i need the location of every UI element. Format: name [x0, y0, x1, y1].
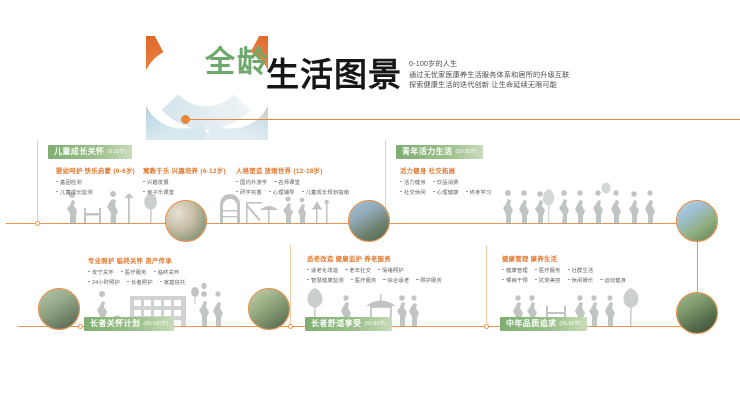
- chip-elder-care-label: 长者关怀计划: [90, 317, 140, 331]
- block-title: 适老改造 健康监护 养老服务: [307, 254, 442, 263]
- block-item: 长者照护: [127, 278, 153, 286]
- timeline-tick: [288, 324, 293, 329]
- block-item: 儿童成长规划指南: [302, 188, 350, 196]
- block-row: 基因检测: [56, 178, 135, 186]
- block-middle-age: 健康管理 康养生活 健康管理 医疗服务 社群生活 慢病干预 抗衰美容 休闲娱乐 …: [502, 254, 626, 284]
- block-item: 儿童成长监测: [56, 188, 93, 196]
- chip-youth-age: (18-35岁): [455, 145, 477, 159]
- block-item: 心理健康: [433, 188, 459, 196]
- block-item: 名师课堂: [274, 178, 300, 186]
- block-item: 社群生活: [568, 266, 594, 274]
- block-item: 兴趣发展: [143, 178, 169, 186]
- block-item: 活力健身: [400, 178, 426, 186]
- chip-elder-care-age: (80-100岁): [143, 317, 168, 331]
- node-youth-activity[interactable]: [676, 200, 718, 242]
- block-row: 社交休闲 心理健康 终身学习: [400, 188, 491, 196]
- infographic-canvas: 全龄 生活图景 0-100岁的人生 通过无忧家医康养生活服务体系和居所的升级互联…: [0, 0, 740, 416]
- block-row: 慢病干预 抗衰美容 休闲娱乐 运动健身: [502, 276, 626, 284]
- block-item: 照护服务: [416, 276, 442, 284]
- chip-child-label: 儿童成长关怀: [54, 145, 104, 159]
- block-item: 医疗服务: [121, 268, 147, 276]
- block-item: 医疗服务: [535, 266, 561, 274]
- block-item: 运动健身: [600, 276, 626, 284]
- block-child-school: 寓教于乐 兴趣培养 (6-12岁) 兴趣发展 亲子乐课堂: [143, 166, 226, 196]
- timeline-tick: [78, 324, 83, 329]
- block-item: 慢病干预: [502, 276, 528, 284]
- block-item: 健康管理: [502, 266, 528, 274]
- block-row: 研学完善 心理辅导 儿童成长规划指南: [236, 188, 349, 196]
- header-description: 0-100岁的人生 通过无忧家医康养生活服务体系和居所的升级互联 探索健康生活的…: [409, 59, 609, 91]
- block-item: 情绪照护: [378, 266, 404, 274]
- block-elder-comfort: 适老改造 健康监护 养老服务 适老化改造 老年社交 情绪照护 智慧健康监测 医疗…: [307, 254, 442, 284]
- chip-elder-care[interactable]: 长者关怀计划 (80-100岁): [84, 317, 174, 331]
- block-item: 休闲娱乐: [568, 276, 594, 284]
- block-item: 智慧健康监测: [307, 276, 344, 284]
- header: 全龄 生活图景 0-100岁的人生 通过无忧家医康养生活服务体系和居所的升级互联…: [0, 0, 740, 132]
- chip-elder-comfort[interactable]: 长者舒适享受 (60-80岁): [305, 317, 392, 331]
- chip-elder-comfort-label: 长者舒适享受: [311, 317, 361, 331]
- block-row: 安宁关怀 医疗服务 临终关怀: [88, 268, 186, 276]
- block-title: 活力健身 社交拓展: [400, 166, 491, 175]
- node-middle-age-photo[interactable]: [676, 292, 718, 334]
- block-item: 社交休闲: [400, 188, 426, 196]
- timeline-left-drop: [37, 140, 38, 223]
- block-title: 健康管理 康养生活: [502, 254, 626, 263]
- block-row: 适老化改造 老年社交 情绪照护: [307, 266, 442, 274]
- node-child-play[interactable]: [165, 200, 207, 242]
- block-item: 医疗服务: [351, 276, 377, 284]
- block-row: 国内外游学 名师课堂: [236, 178, 349, 186]
- block-row: 活力健身 饮品消费: [400, 178, 491, 186]
- block-row: 儿童成长监测: [56, 188, 135, 196]
- block-youth: 活力健身 社交拓展 活力健身 饮品消费 社交休闲 心理健康 终身学习: [400, 166, 491, 196]
- header-rule: [188, 119, 740, 120]
- block-child-infant: 婴幼呵护 快乐启蒙 (0-6岁) 基因检测 儿童成长监测: [56, 166, 135, 196]
- timeline-tick: [484, 324, 489, 329]
- block-row: 24小时照护 长者照护 家庭信托: [88, 278, 186, 286]
- block-item: 研学完善: [236, 188, 262, 196]
- block-row: 智慧健康监测 医疗服务 综合适老 照护服务: [307, 276, 442, 284]
- timeline-eldercomfort-divider: [290, 245, 291, 326]
- block-item: 家庭信托: [160, 278, 186, 286]
- node-child-outdoor[interactable]: [348, 200, 390, 242]
- block-item: 抗衰美容: [535, 276, 561, 284]
- chip-child-age: (0-20岁): [107, 145, 126, 159]
- brand-name: 全龄: [205, 48, 269, 78]
- chip-child[interactable]: 儿童成长关怀 (0-20岁): [48, 145, 132, 159]
- scenery-youth: [500, 182, 660, 224]
- chip-middle-age[interactable]: 中年品质追求 (35-60岁): [500, 317, 587, 331]
- chip-middle-age-age: (35-60岁): [559, 317, 581, 331]
- timeline-midage-divider: [486, 245, 487, 326]
- block-title: 人格塑造 放眼世界 (12-18岁): [236, 166, 349, 175]
- block-item: 综合适老: [383, 276, 409, 284]
- desc-line-3: 探索健康生活的迭代创新 让生命延续无限可能: [409, 80, 609, 91]
- block-item: 24小时照护: [88, 278, 120, 286]
- timeline-tick: [35, 221, 40, 226]
- block-item: 亲子乐课堂: [143, 188, 174, 196]
- chip-youth[interactable]: 青年活力生活 (18-35岁): [396, 145, 483, 159]
- node-elder-comfort-photo[interactable]: [248, 288, 290, 330]
- block-title: 婴幼呵护 快乐启蒙 (0-6岁): [56, 166, 135, 175]
- block-row: 健康管理 医疗服务 社群生活: [502, 266, 626, 274]
- block-title: 专业照护 临终关怀 资产传承: [88, 256, 186, 265]
- chip-elder-comfort-age: (60-80岁): [364, 317, 386, 331]
- page-title: 生活图景: [266, 58, 402, 91]
- block-item: 饮品消费: [433, 178, 459, 186]
- block-title: 寓教于乐 兴趣培养 (6-12岁): [143, 166, 226, 175]
- block-item: 心理辅导: [269, 188, 295, 196]
- chip-youth-label: 青年活力生活: [402, 145, 452, 159]
- chip-middle-age-label: 中年品质追求: [506, 317, 556, 331]
- block-child-teen: 人格塑造 放眼世界 (12-18岁) 国内外游学 名师课堂 研学完善 心理辅导 …: [236, 166, 349, 196]
- node-elder-care-photo[interactable]: [38, 288, 80, 330]
- block-item: 国内外游学: [236, 178, 267, 186]
- block-row: 兴趣发展: [143, 178, 226, 186]
- block-item: 安宁关怀: [88, 268, 114, 276]
- block-item: 终身学习: [466, 188, 492, 196]
- block-item: 老年社交: [345, 266, 371, 274]
- block-item: 适老化改造: [307, 266, 338, 274]
- desc-line-2: 通过无忧家医康养生活服务体系和居所的升级互联: [409, 70, 609, 81]
- block-item: 临终关怀: [154, 268, 180, 276]
- desc-line-1: 0-100岁的人生: [409, 59, 609, 70]
- block-row: 亲子乐课堂: [143, 188, 226, 196]
- block-item: 基因检测: [56, 178, 82, 186]
- block-elder-care: 专业照护 临终关怀 资产传承 安宁关怀 医疗服务 临终关怀 24小时照护 长者照…: [88, 256, 186, 286]
